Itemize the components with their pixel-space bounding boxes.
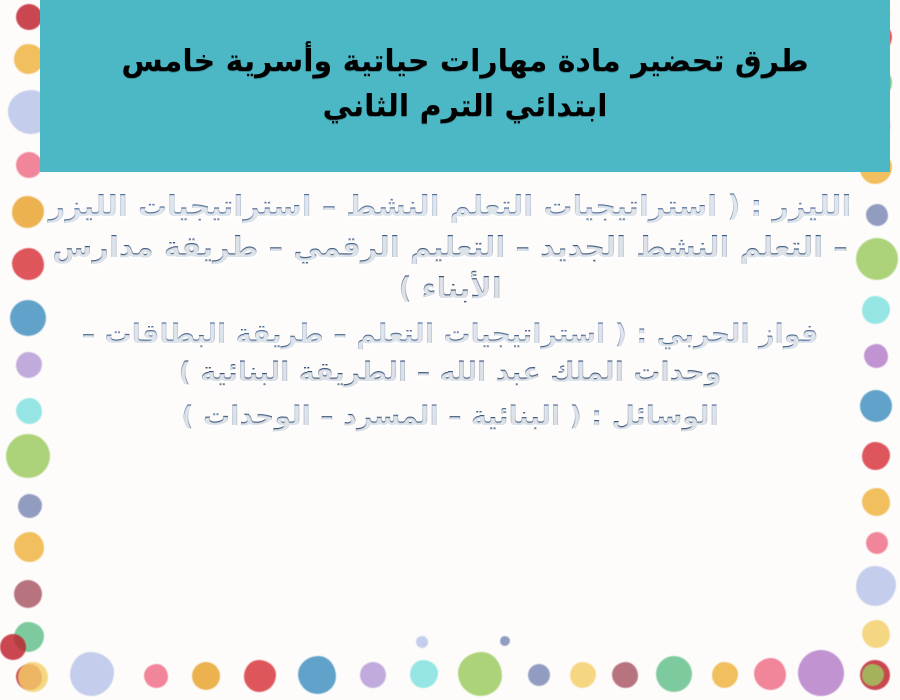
paragraph-fawaz-alharbi: فواز الحربي : ( استراتيجيات التعلم – طري… [46,316,854,393]
decorative-dot [144,664,168,688]
decorative-dot [244,660,276,692]
decorative-dot [754,658,786,690]
decorative-dot [12,248,44,280]
decorative-dot [866,532,888,554]
decorative-dot [298,656,336,694]
decorative-dot [862,296,890,324]
page-title: طرق تحضير مادة مهارات حياتية وأسرية خامس… [66,39,864,129]
paragraph-alwasael: الوسائل : ( البنائية – المسرد – الوحدات … [46,398,854,436]
decorative-dot [70,652,114,696]
title-banner: طرق تحضير مادة مهارات حياتية وأسرية خامس… [40,0,890,172]
decorative-dot [192,662,220,690]
decorative-dot [500,636,510,646]
decorative-dot [570,662,596,688]
decorative-dot [862,488,890,516]
decorative-dot [862,442,890,470]
decorative-dot [360,662,386,688]
decorative-dot [410,660,438,688]
decorative-dot [416,636,428,648]
decorative-dot [712,662,738,688]
decorative-dot [14,580,42,608]
decorative-dot [16,152,42,178]
decorative-dot [860,390,892,422]
decorative-dot [528,664,550,686]
paragraph-laser: الليزر : ( استراتيجيات التعلم النشط – اس… [46,186,854,310]
decorative-dot [866,204,888,226]
decorative-dot [16,352,42,378]
decorative-dot [862,620,890,648]
poster-canvas: طرق تحضير مادة مهارات حياتية وأسرية خامس… [0,0,900,700]
decorative-dot [864,344,888,368]
decorative-dot [16,398,42,424]
decorative-dot [0,634,26,660]
decorative-dot [14,622,44,652]
decorative-dot [612,662,638,688]
decorative-dot [458,652,502,696]
decorative-dot [860,660,890,690]
decorative-dot [16,4,42,30]
decorative-dot [12,196,44,228]
decorative-dot [862,664,884,686]
decorative-dot [16,664,42,690]
decorative-dot [856,566,896,606]
decorative-dot [798,650,844,696]
decorative-dot [856,238,898,280]
decorative-dot [14,532,44,562]
decorative-dot [10,300,46,336]
decorative-dot [18,494,42,518]
decorative-dot [656,656,692,692]
decorative-dot [18,662,48,692]
content-body: الليزر : ( استراتيجيات التعلم النشط – اس… [46,186,854,441]
decorative-dot [6,434,50,478]
